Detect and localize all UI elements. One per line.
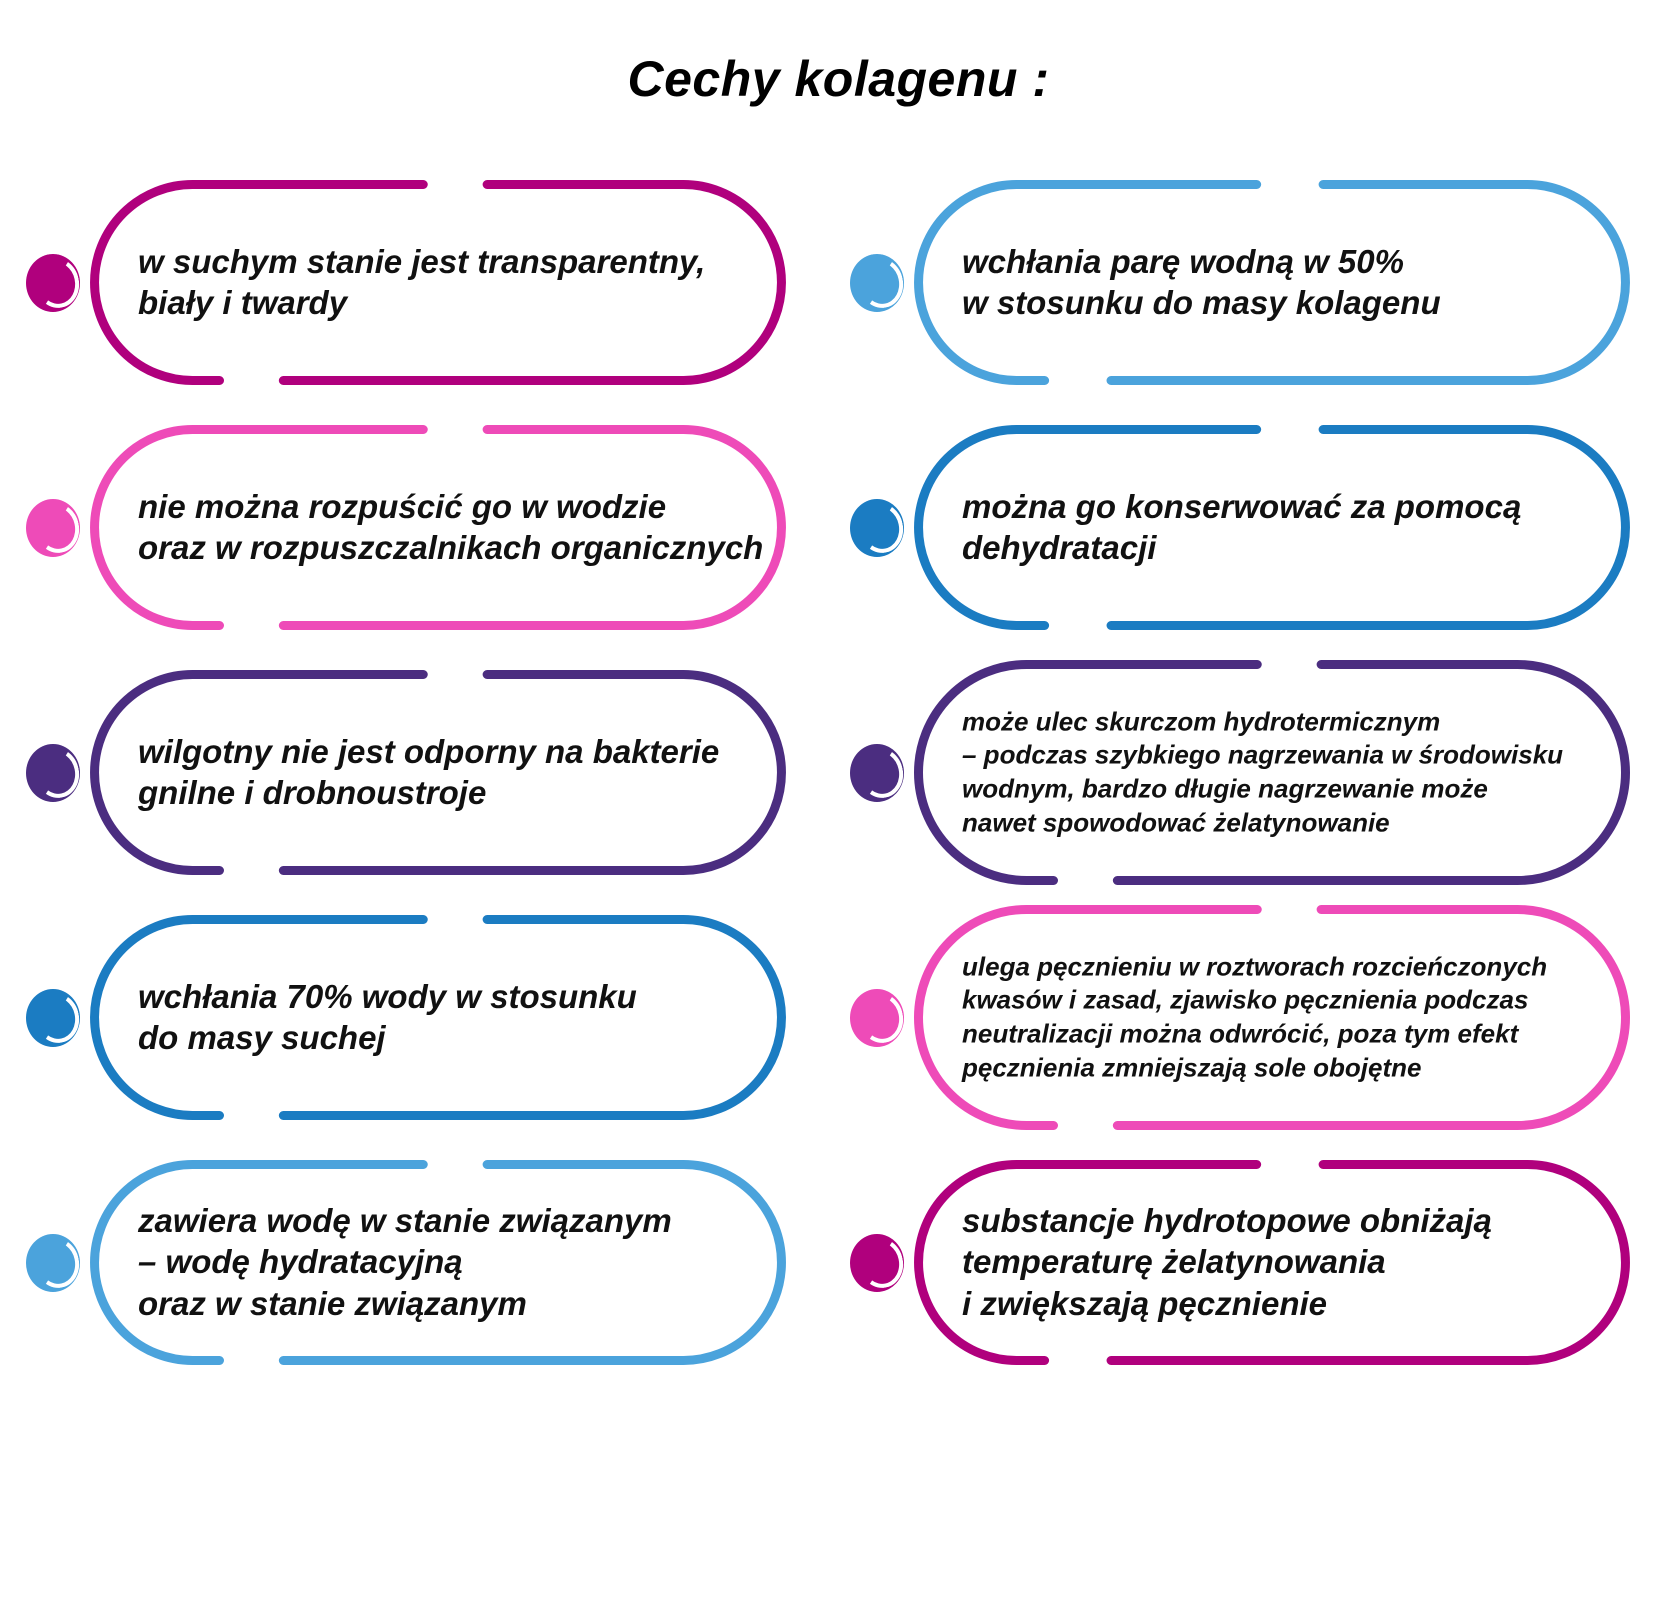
feature-pill: może ulec skurczom hydrotermicznym– podc… (914, 660, 1630, 885)
feature-text-line: nie można rozpuścić go w wodzie (138, 486, 752, 528)
feature-item: w suchym stanie jest transparentny,biały… (0, 160, 810, 405)
bullet-circle-icon (850, 744, 904, 802)
bullet-circle-icon (26, 499, 80, 557)
feature-text: wchłania 70% wody w stosunkudo masy such… (138, 976, 752, 1060)
feature-pill: wchłania 70% wody w stosunkudo masy such… (90, 915, 786, 1120)
feature-text-line: wodnym, bardzo długie nagrzewanie może (962, 773, 1596, 807)
feature-item: wilgotny nie jest odporny na bakteriegni… (0, 650, 810, 895)
bullet-circle-icon (850, 254, 904, 312)
feature-text-line: do masy suchej (138, 1018, 752, 1060)
feature-text-line: nawet spowodować żelatynowanie (962, 806, 1596, 840)
feature-text-line: neutralizacji można odwrócić, poza tym e… (962, 1018, 1596, 1052)
feature-text-line: gnilne i drobnoustroje (138, 773, 752, 815)
feature-item: może ulec skurczom hydrotermicznym– podc… (824, 650, 1654, 895)
feature-pill: wchłania parę wodną w 50%w stosunku do m… (914, 180, 1630, 385)
feature-pill: substancje hydrotopowe obniżajątemperatu… (914, 1160, 1630, 1365)
feature-text-line: biały i twardy (138, 283, 752, 325)
page-title: Cechy kolagenu : (0, 50, 1677, 108)
bullet-circle-icon (26, 1234, 80, 1292)
feature-pill: zawiera wodę w stanie związanym– wodę hy… (90, 1160, 786, 1365)
infographic-page: Cechy kolagenu : w suchym stanie jest tr… (0, 0, 1677, 1600)
feature-text: wilgotny nie jest odporny na bakteriegni… (138, 731, 752, 815)
feature-text-line: zawiera wodę w stanie związanym (138, 1200, 752, 1242)
feature-text: ulega pęcznieniu w roztworach rozcieńczo… (962, 950, 1596, 1085)
feature-text: zawiera wodę w stanie związanym– wodę hy… (138, 1200, 752, 1326)
feature-pill: nie można rozpuścić go w wodzieoraz w ro… (90, 425, 786, 630)
bullet-circle-icon (26, 744, 80, 802)
bullet-circle-icon (26, 989, 80, 1047)
feature-text-line: kwasów i zasad, zjawisko pęcznienia podc… (962, 984, 1596, 1018)
feature-text-line: pęcznienia zmniejszają sole obojętne (962, 1051, 1596, 1085)
feature-text-line: dehydratacji (962, 528, 1596, 570)
feature-text: może ulec skurczom hydrotermicznym– podc… (962, 705, 1596, 840)
feature-item: nie można rozpuścić go w wodzieoraz w ro… (0, 405, 810, 650)
right-column: wchłania parę wodną w 50%w stosunku do m… (824, 160, 1654, 1385)
feature-text: można go konserwować za pomocądehydratac… (962, 486, 1596, 570)
feature-item: wchłania 70% wody w stosunkudo masy such… (0, 895, 810, 1140)
feature-text: wchłania parę wodną w 50%w stosunku do m… (962, 241, 1596, 325)
features-grid: w suchym stanie jest transparentny,biały… (0, 160, 1677, 1385)
feature-text-line: w suchym stanie jest transparentny, (138, 241, 752, 283)
feature-item: wchłania parę wodną w 50%w stosunku do m… (824, 160, 1654, 405)
feature-text: nie można rozpuścić go w wodzieoraz w ro… (138, 486, 752, 570)
feature-text-line: może ulec skurczom hydrotermicznym (962, 705, 1596, 739)
bullet-circle-icon (850, 499, 904, 557)
feature-text-line: – wodę hydratacyjną (138, 1242, 752, 1284)
feature-text-line: wilgotny nie jest odporny na bakterie (138, 731, 752, 773)
feature-text: w suchym stanie jest transparentny,biały… (138, 241, 752, 325)
feature-text: substancje hydrotopowe obniżajątemperatu… (962, 1200, 1596, 1326)
feature-pill: wilgotny nie jest odporny na bakteriegni… (90, 670, 786, 875)
feature-text-line: i zwiększają pęcznienie (962, 1283, 1596, 1325)
feature-item: zawiera wodę w stanie związanym– wodę hy… (0, 1140, 810, 1385)
feature-pill: można go konserwować za pomocądehydratac… (914, 425, 1630, 630)
feature-text-line: wchłania 70% wody w stosunku (138, 976, 752, 1018)
bullet-circle-icon (26, 254, 80, 312)
feature-text-line: wchłania parę wodną w 50% (962, 241, 1596, 283)
feature-text-line: – podczas szybkiego nagrzewania w środow… (962, 739, 1596, 773)
feature-pill: w suchym stanie jest transparentny,biały… (90, 180, 786, 385)
feature-text-line: w stosunku do masy kolagenu (962, 283, 1596, 325)
feature-item: można go konserwować za pomocądehydratac… (824, 405, 1654, 650)
bullet-circle-icon (850, 989, 904, 1047)
feature-item: substancje hydrotopowe obniżajątemperatu… (824, 1140, 1654, 1385)
feature-text-line: oraz w rozpuszczalnikach organicznych (138, 528, 752, 570)
left-column: w suchym stanie jest transparentny,biały… (0, 160, 810, 1385)
feature-text-line: oraz w stanie związanym (138, 1283, 752, 1325)
feature-text-line: ulega pęcznieniu w roztworach rozcieńczo… (962, 950, 1596, 984)
feature-text-line: można go konserwować za pomocą (962, 486, 1596, 528)
bullet-circle-icon (850, 1234, 904, 1292)
feature-item: ulega pęcznieniu w roztworach rozcieńczo… (824, 895, 1654, 1140)
feature-text-line: temperaturę żelatynowania (962, 1242, 1596, 1284)
feature-text-line: substancje hydrotopowe obniżają (962, 1200, 1596, 1242)
feature-pill: ulega pęcznieniu w roztworach rozcieńczo… (914, 905, 1630, 1130)
